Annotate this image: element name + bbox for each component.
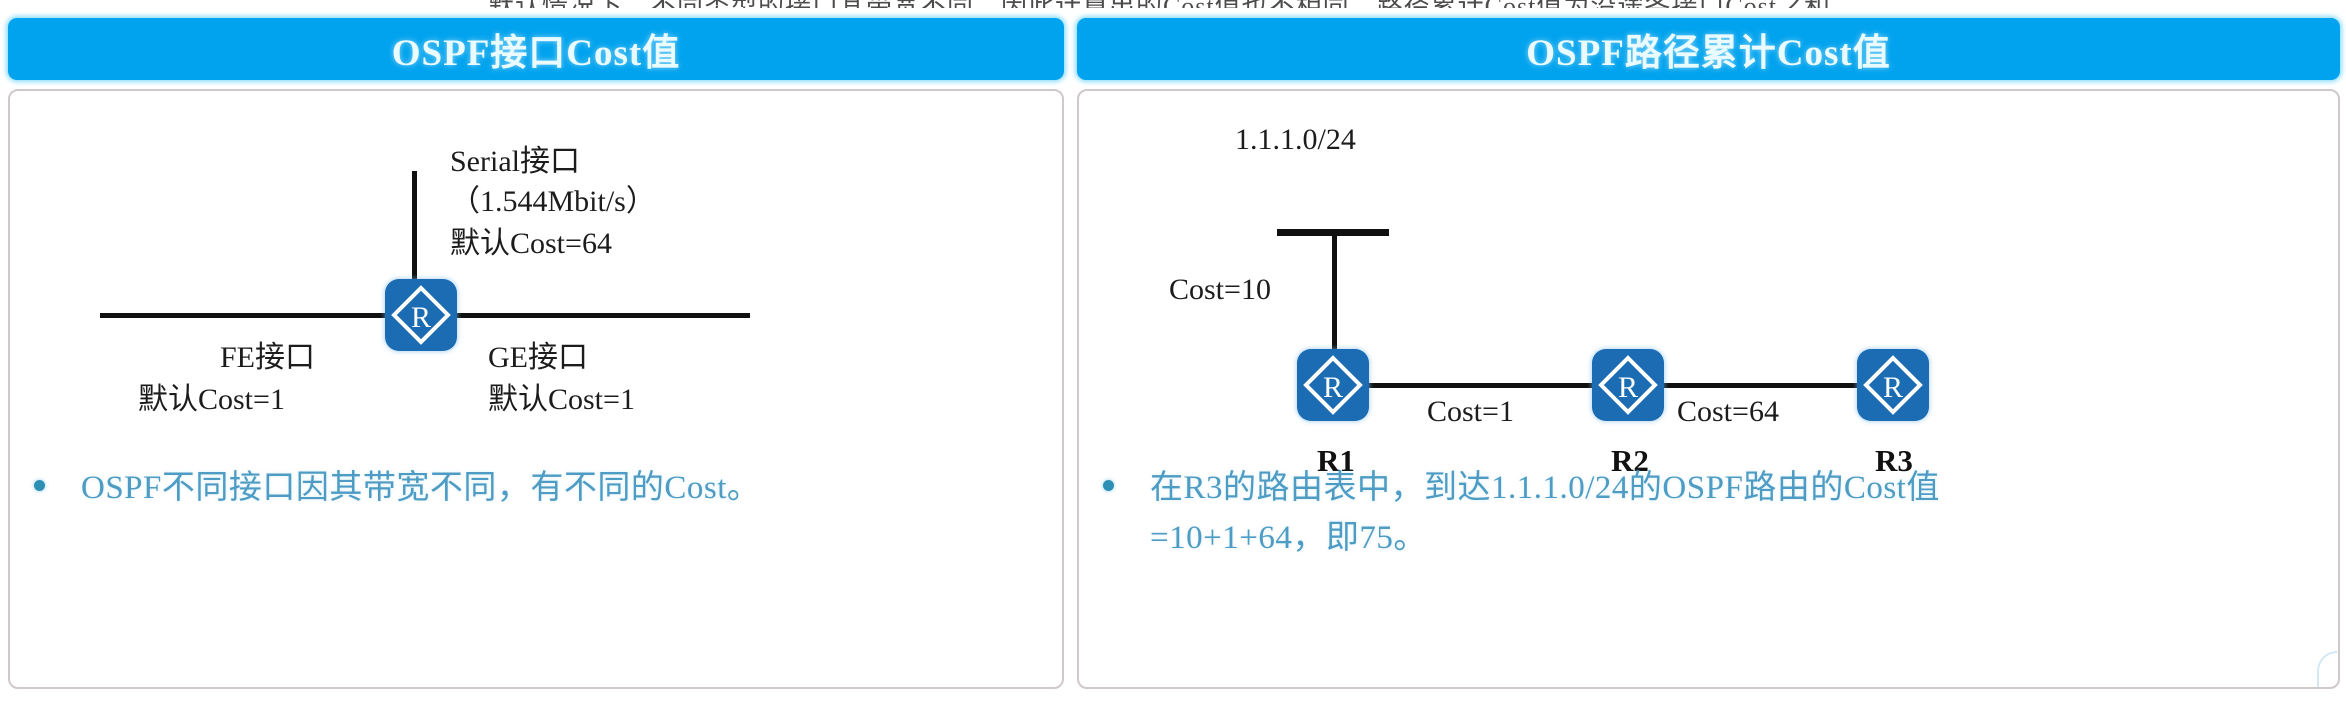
bullet-dot-icon xyxy=(34,480,45,491)
svg-text:R: R xyxy=(1618,371,1638,404)
label-serial-interface: Serial接口 xyxy=(450,143,580,181)
label-network-prefix: 1.1.1.0/24 xyxy=(1235,121,1356,159)
bullet-left: OSPF不同接口因其带宽不同，有不同的Cost。 xyxy=(34,463,1024,513)
bullet-dot-icon xyxy=(1103,480,1114,491)
panel-body-left: R Serial接口 （1.544Mbit/s） 默认Cost=64 FE接口 … xyxy=(8,89,1064,689)
panel-title-right: OSPF路径累计Cost值 xyxy=(1526,22,1891,76)
panel-title-left: OSPF接口Cost值 xyxy=(392,22,681,76)
slide-canvas: OSPF接口Cost值 R Serial接口 （1.544Mbit/s） xyxy=(0,0,2346,716)
label-fe-cost: 默认Cost=1 xyxy=(138,381,285,419)
svg-text:R: R xyxy=(1323,371,1343,404)
panel-header-right: OSPF路径累计Cost值 xyxy=(1077,18,2340,80)
panel-header-left: OSPF接口Cost值 xyxy=(8,18,1064,80)
link-line-r2-r3 xyxy=(1629,383,1891,388)
svg-text:R: R xyxy=(411,301,431,334)
label-ge-cost: 默认Cost=1 xyxy=(488,381,635,419)
router-icon-r3: R xyxy=(1857,349,1929,421)
label-cost-lan: Cost=10 xyxy=(1169,271,1271,309)
label-serial-bandwidth: （1.544Mbit/s） xyxy=(450,183,656,221)
diagram-interface-cost: R Serial接口 （1.544Mbit/s） 默认Cost=64 FE接口 … xyxy=(10,91,1062,687)
router-icon-r1: R xyxy=(1297,349,1369,421)
router-icon: R xyxy=(385,279,457,351)
bullet-right: 在R3的路由表中，到达1.1.1.0/24的OSPF路由的Cost值 =10+1… xyxy=(1103,463,2303,563)
panel-body-right: 1.1.1.0/24 Cost=10 R xyxy=(1077,89,2340,689)
label-fe-interface: FE接口 xyxy=(220,339,315,377)
link-line-lan-to-r1 xyxy=(1332,231,1337,349)
bullet-right-text: 在R3的路由表中，到达1.1.1.0/24的OSPF路由的Cost值 =10+1… xyxy=(1150,463,1940,563)
panel-path-cumulative-cost: OSPF路径累计Cost值 1.1.1.0/24 Cost=10 xyxy=(1077,18,2340,698)
bullet-left-text: OSPF不同接口因其带宽不同，有不同的Cost。 xyxy=(81,463,760,513)
label-cost-r1-r2: Cost=1 xyxy=(1427,393,1514,431)
label-cost-r2-r3: Cost=64 xyxy=(1677,393,1779,431)
label-serial-cost: 默认Cost=64 xyxy=(450,225,612,263)
router-icon-r2: R xyxy=(1592,349,1664,421)
panel-interface-cost: OSPF接口Cost值 R Serial接口 （1.544Mbit/s） xyxy=(8,18,1064,698)
label-ge-interface: GE接口 xyxy=(488,339,588,377)
diagram-path-cost: 1.1.1.0/24 Cost=10 R xyxy=(1079,91,2338,687)
svg-text:R: R xyxy=(1883,371,1903,404)
